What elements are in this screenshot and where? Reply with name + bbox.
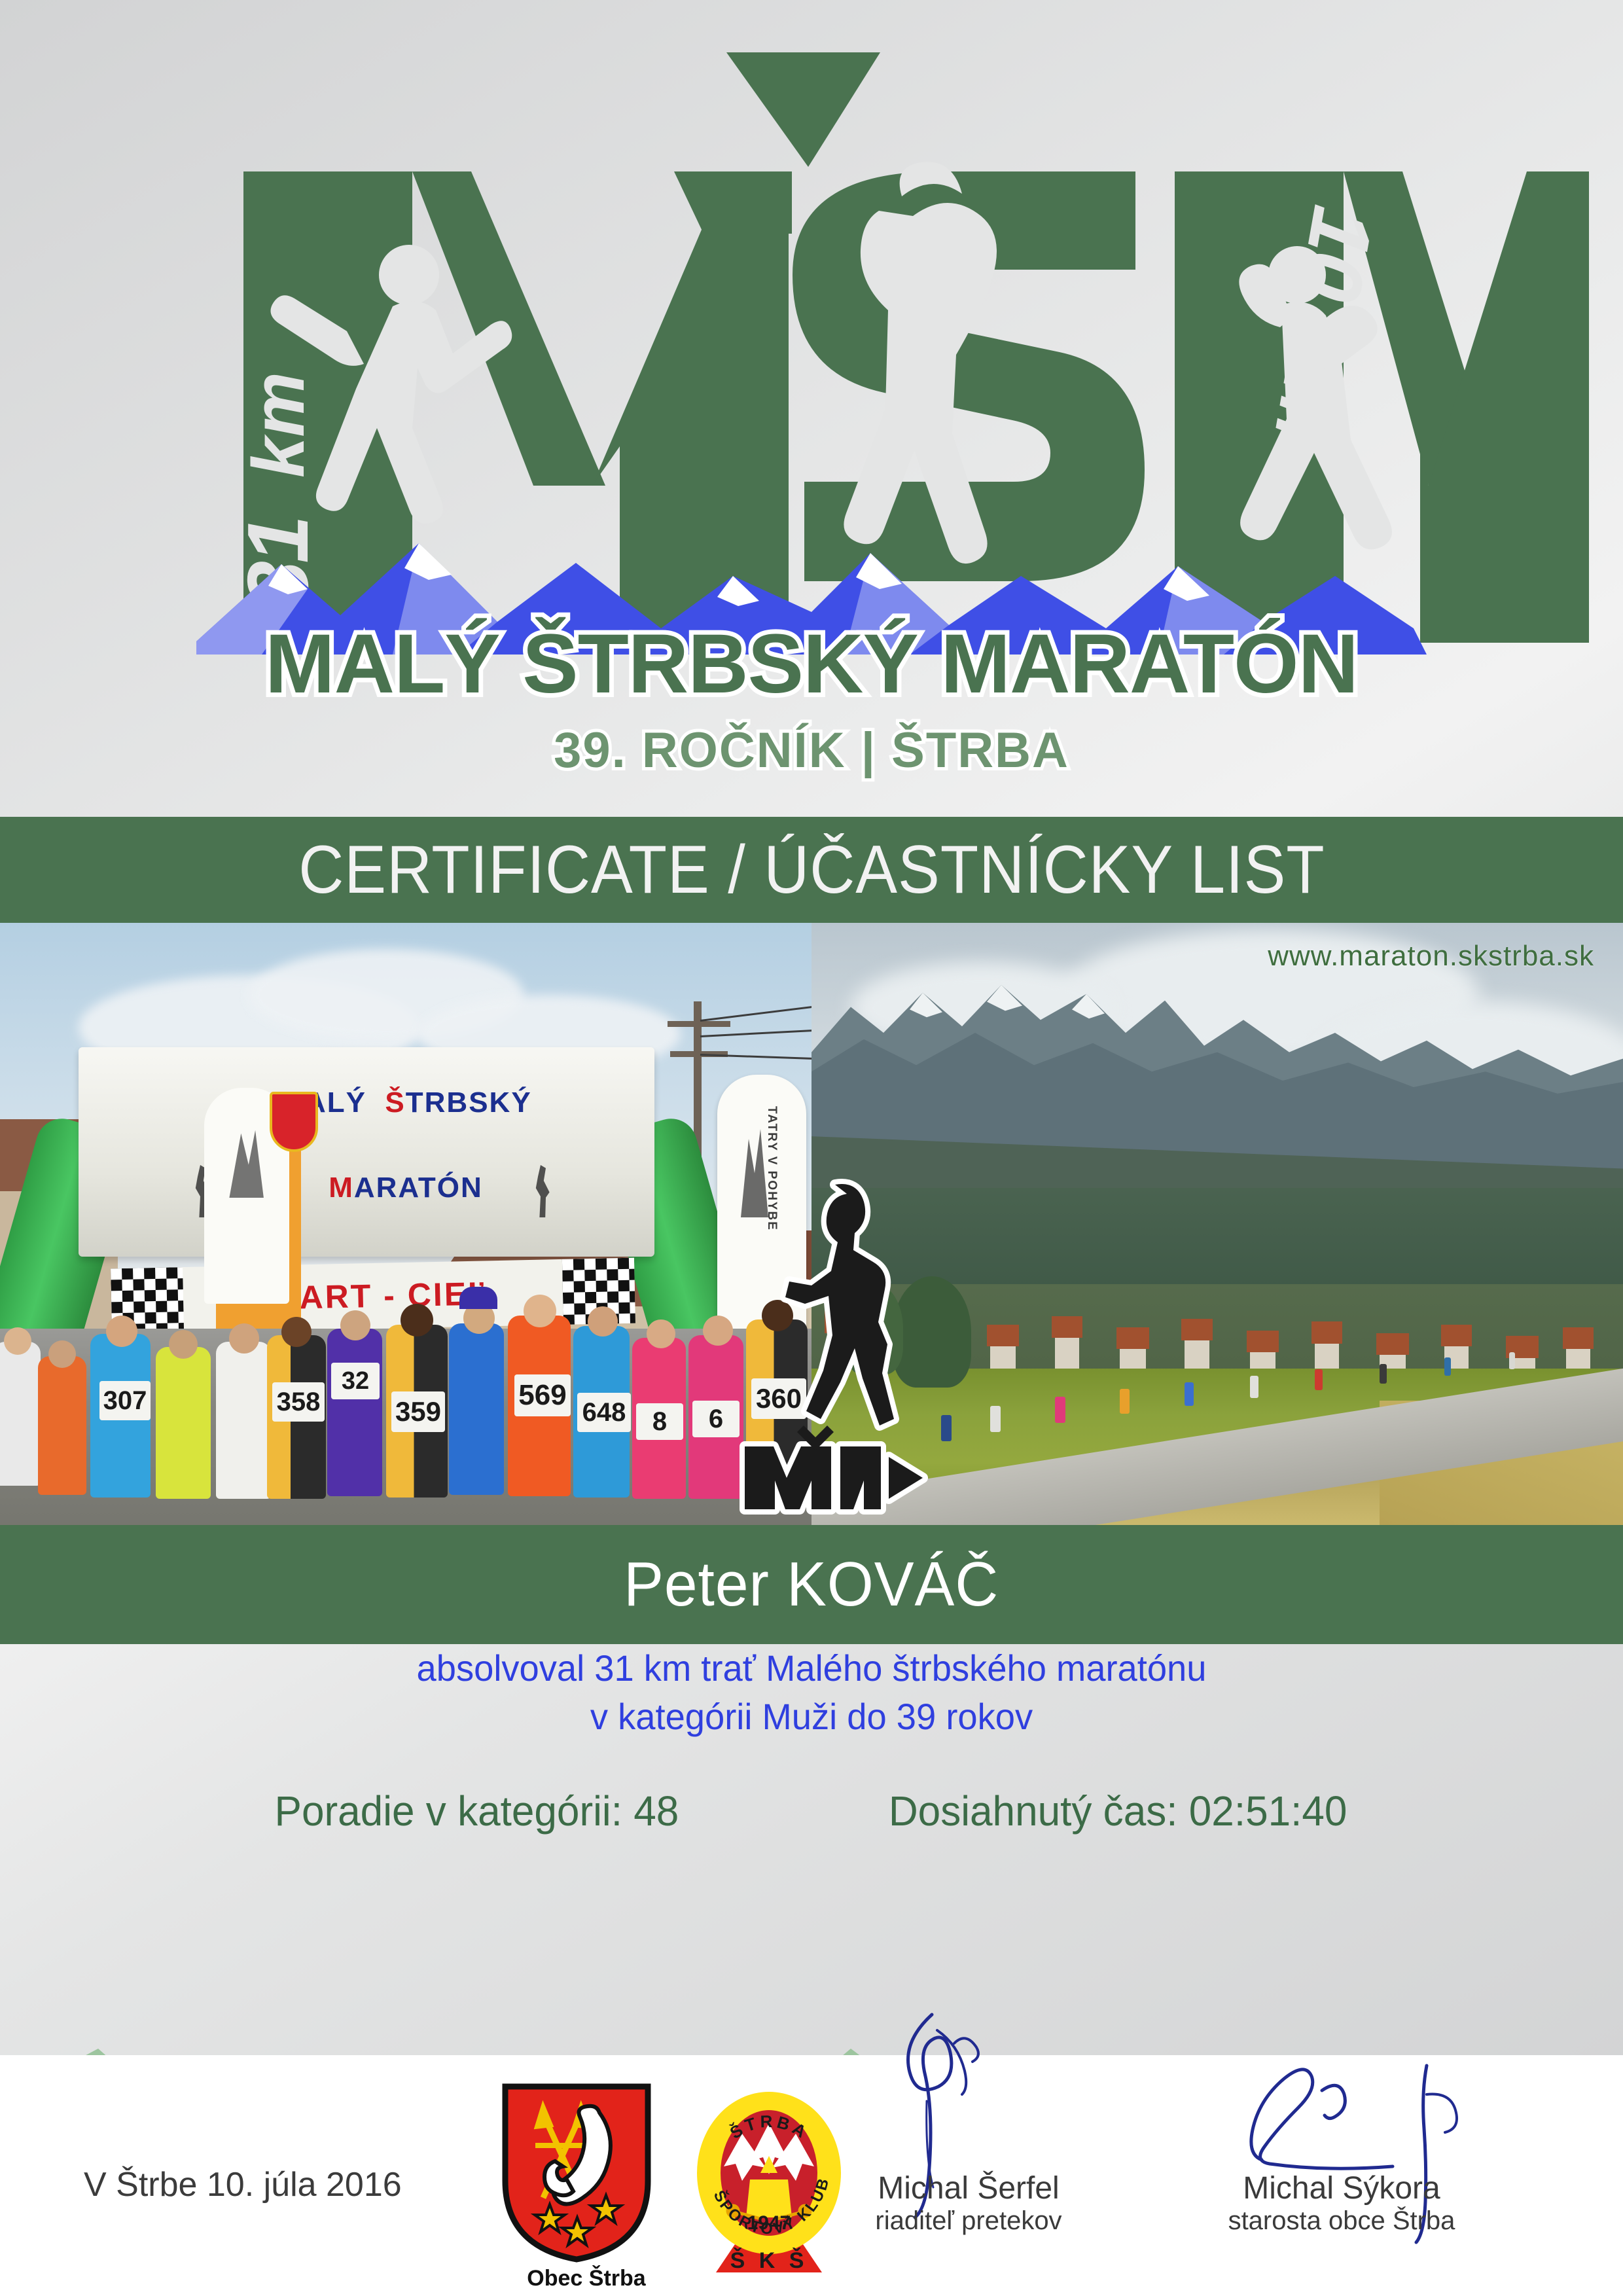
runner bbox=[449, 1323, 504, 1495]
msm-logo-svg: 31 km 10 km M bbox=[0, 0, 1623, 817]
arch-text-line1: MALÝ ŠTRBSKÝ bbox=[0, 1086, 811, 1119]
svg-text:km: km bbox=[238, 372, 319, 478]
signature-name-2: Michal Sýkora bbox=[1191, 2170, 1492, 2206]
certificate-title: CERTIFICATE / ÚČASTNÍCKY LIST bbox=[298, 831, 1325, 909]
runner-head bbox=[4, 1327, 31, 1355]
achievement-description: absolvoval 31 km trať Malého štrbského m… bbox=[0, 1644, 1623, 1741]
sks-strba-club-logo: 1947 ŠTRBA ŠPORTOVÝ KLUB Š K Š bbox=[692, 2083, 846, 2279]
signature-role-1: riaditeľ pretekov bbox=[838, 2206, 1099, 2236]
runner-bib: 8 bbox=[636, 1403, 683, 1440]
runner-head bbox=[588, 1306, 618, 1336]
athlete-name: Peter KOVÁČ bbox=[624, 1549, 999, 1621]
runner-head bbox=[647, 1319, 675, 1348]
runner bbox=[156, 1347, 211, 1499]
runner-bib: 358 bbox=[272, 1382, 325, 1422]
runner-head bbox=[524, 1295, 556, 1327]
distant-runner bbox=[990, 1406, 1001, 1432]
runner-head bbox=[281, 1317, 312, 1347]
obec-strba-label: Obec Štrba bbox=[501, 2266, 671, 2291]
category-rank: Poradie v kategórii: 48 bbox=[275, 1787, 679, 1835]
runner-head bbox=[169, 1330, 198, 1359]
signature-block-2: Michal Sýkora starosta obce Štrba bbox=[1191, 2170, 1492, 2236]
certificate-title-bar: CERTIFICATE / ÚČASTNÍCKY LIST bbox=[0, 817, 1623, 923]
distant-runner bbox=[1509, 1352, 1515, 1369]
runner bbox=[216, 1342, 271, 1499]
signature-role-2: starosta obce Štrba bbox=[1191, 2206, 1492, 2236]
runner bbox=[38, 1356, 86, 1495]
msm-runner-emblem bbox=[725, 1165, 941, 1525]
caron-mark bbox=[726, 52, 880, 167]
runner-head bbox=[106, 1316, 137, 1347]
runner-head bbox=[48, 1340, 76, 1368]
event-name-text: MALÝ ŠTRBSKÝ MARATÓN bbox=[265, 617, 1358, 711]
athlete-name-bar: Peter KOVÁČ bbox=[0, 1525, 1623, 1644]
issue-date: V Štrbe 10. júla 2016 bbox=[84, 2165, 402, 2204]
event-logo-block: 31 km 10 km M bbox=[0, 0, 1623, 817]
website-url[interactable]: www.maraton.skstrba.sk bbox=[1268, 940, 1594, 973]
signature-block-1: Michal Šerfel riaditeľ pretekov bbox=[838, 2170, 1099, 2236]
results-row: Poradie v kategórii: 48 Dosiahnutý čas: … bbox=[0, 1787, 1623, 1835]
edition-text: 39. ROČNÍK | ŠTRBA bbox=[554, 723, 1069, 779]
obec-strba-crest bbox=[501, 2083, 652, 2263]
runner-cap bbox=[459, 1287, 497, 1309]
signature-name-1: Michal Šerfel bbox=[838, 2170, 1099, 2206]
description-line-1: absolvoval 31 km trať Malého štrbského m… bbox=[24, 1644, 1599, 1693]
arch-banner bbox=[79, 1047, 654, 1257]
finish-time: Dosiahnutý čas: 02:51:40 bbox=[889, 1787, 1347, 1835]
distant-runner bbox=[1444, 1357, 1451, 1376]
distant-runner bbox=[1380, 1364, 1387, 1384]
runner-bib: 569 bbox=[514, 1374, 571, 1416]
runner bbox=[0, 1342, 41, 1486]
race-start-photo: MALÝ ŠTRBSKÝ MARATÓN ŠTART - CIEĽ TATRY … bbox=[0, 923, 811, 1525]
description-line-2: v kategórii Muži do 39 rokov bbox=[24, 1693, 1599, 1741]
distant-runner bbox=[1250, 1376, 1258, 1398]
distant-runner bbox=[1120, 1389, 1130, 1414]
runner-head bbox=[229, 1323, 259, 1354]
runner-head bbox=[401, 1304, 433, 1336]
runner-bib: 648 bbox=[577, 1393, 631, 1432]
crest-mini-icon bbox=[270, 1092, 318, 1152]
distant-runner bbox=[1315, 1369, 1323, 1390]
svg-text:10: 10 bbox=[1281, 200, 1392, 308]
certificate-sheet: 31 km 10 km M bbox=[0, 0, 1623, 2296]
distant-runner bbox=[1055, 1397, 1065, 1423]
runner bbox=[327, 1329, 382, 1496]
distant-runner bbox=[941, 1415, 952, 1441]
footer: V Štrbe 10. júla 2016 Obec Štrba bbox=[0, 2055, 1623, 2296]
distant-runner bbox=[1185, 1382, 1194, 1406]
club-bottom-text: Š K Š bbox=[730, 2248, 808, 2273]
arch-text-line2: MARATÓN bbox=[0, 1172, 811, 1204]
pole-crossarm bbox=[668, 1021, 730, 1027]
runner-head bbox=[340, 1310, 370, 1340]
runner-bib: 32 bbox=[331, 1363, 380, 1399]
runner-bib: 359 bbox=[391, 1391, 445, 1432]
runner-bib: 307 bbox=[99, 1381, 151, 1420]
